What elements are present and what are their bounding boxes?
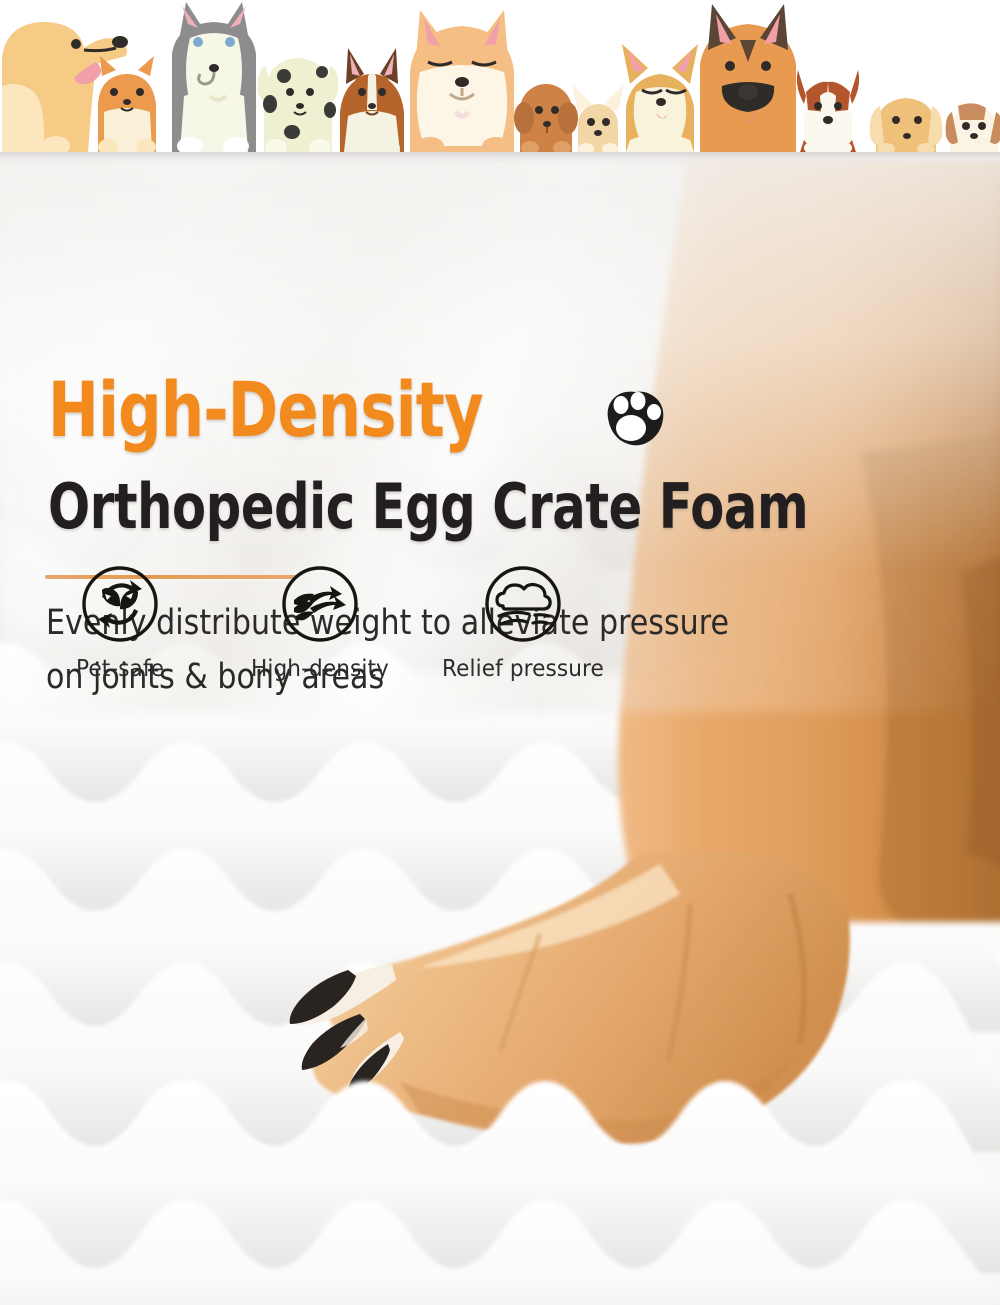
feature-label: Relief pressure [434, 656, 613, 682]
feature-high-density: High-density [225, 564, 415, 682]
dog-german-shepherd [700, 4, 796, 152]
cartoon-dog-lineup-banner [0, 0, 1000, 152]
feature-relief-pressure: Relief pressure [428, 564, 618, 682]
feature-label: Pet-safe [31, 656, 210, 682]
airflow-arrows-icon [280, 564, 360, 644]
dog-lineup-illustration [0, 0, 1000, 152]
feature-badge-row: Pet-safe High-density [0, 152, 1000, 712]
feature-pet-safe: Pet-safe [25, 564, 215, 682]
dog-shiba-large [410, 10, 514, 152]
dog-husky [172, 2, 256, 152]
recycle-leaf-icon [80, 564, 160, 644]
cloud-wind-icon [483, 564, 563, 644]
feature-label: High-density [231, 656, 410, 682]
